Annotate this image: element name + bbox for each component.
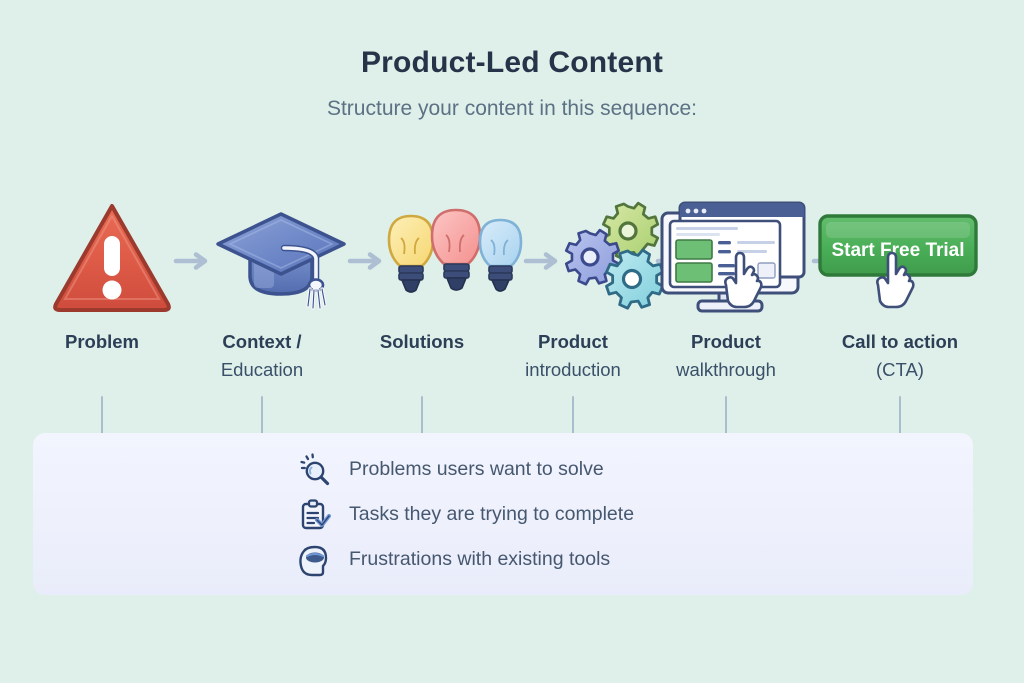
step-label-problem: Problem [22,328,182,356]
step-icon-problem [48,196,176,316]
cta-button-cursor-icon[interactable]: Start Free Trial [810,197,988,315]
list-item-text: Tasks they are trying to complete [349,503,634,526]
infographic-canvas: Product-Led Content Structure your conte… [0,0,1024,683]
connector-line-product-introduction [572,396,574,434]
step-icon-context-education [210,196,352,316]
clipboard-tasks-icon [298,498,332,532]
step-label-context-education: Context / Education [182,328,342,384]
arrow-right-icon-1 [174,252,210,270]
step-label-problem-line1: Problem [65,331,139,352]
flow-icon-row: Start Free Trial [34,196,990,316]
list-item: Problems users want to solve [298,449,958,490]
step-label-solutions-line1: Solutions [380,331,464,352]
page-title: Product-Led Content [0,44,1024,82]
step-label-product-walkthrough-line1: Product [691,331,761,352]
connector-line-product-walkthrough [725,396,727,434]
step-icon-call-to-action[interactable]: Start Free Trial [810,196,988,316]
step-label-product-introduction: Product introduction [492,328,654,384]
cta-button-label: Start Free Trial [831,240,964,261]
head-thinking-icon [298,543,332,577]
arrow-right-icon-2 [348,252,384,270]
header: Product-Led Content Structure your conte… [0,44,1024,122]
connector-line-call-to-action [899,396,901,434]
magnifier-icon [298,453,332,487]
step-icon-solutions [382,196,528,316]
step-label-product-walkthrough-line2: walkthrough [644,356,808,384]
graduation-cap-icon [210,200,352,312]
list-item: Frustrations with existing tools [298,539,958,580]
step-label-solutions: Solutions [342,328,502,356]
connector-line-problem [101,396,103,434]
step-label-product-walkthrough: Product walkthrough [644,328,808,384]
lightbulbs-icon [382,200,528,312]
page-subtitle: Structure your content in this sequence: [0,96,1024,122]
step-label-context-education-line1: Context / [222,331,301,352]
details-panel: Problems users want to solve Tasks they … [33,433,973,595]
details-list: Problems users want to solve Tasks they … [298,449,958,584]
list-item-text: Frustrations with existing tools [349,548,610,571]
step-label-product-introduction-line2: introduction [492,356,654,384]
step-label-product-introduction-line1: Product [538,331,608,352]
step-label-call-to-action-line1: Call to action [842,331,958,352]
browser-window-cursor-icon[interactable] [654,197,814,315]
connector-line-solutions [421,396,423,434]
step-label-context-education-line2: Education [182,356,342,384]
connector-line-context-education [261,396,263,434]
warning-triangle-icon [52,200,172,312]
step-label-call-to-action-line2: (CTA) [808,356,992,384]
step-label-row: Problem Context / Education Solutions Pr… [0,328,1024,394]
step-label-call-to-action: Call to action (CTA) [808,328,992,384]
list-item: Tasks they are trying to complete [298,494,958,535]
arrow-right-icon-3 [524,252,560,270]
step-icon-product-walkthrough[interactable] [654,196,814,316]
list-item-text: Problems users want to solve [349,458,604,481]
